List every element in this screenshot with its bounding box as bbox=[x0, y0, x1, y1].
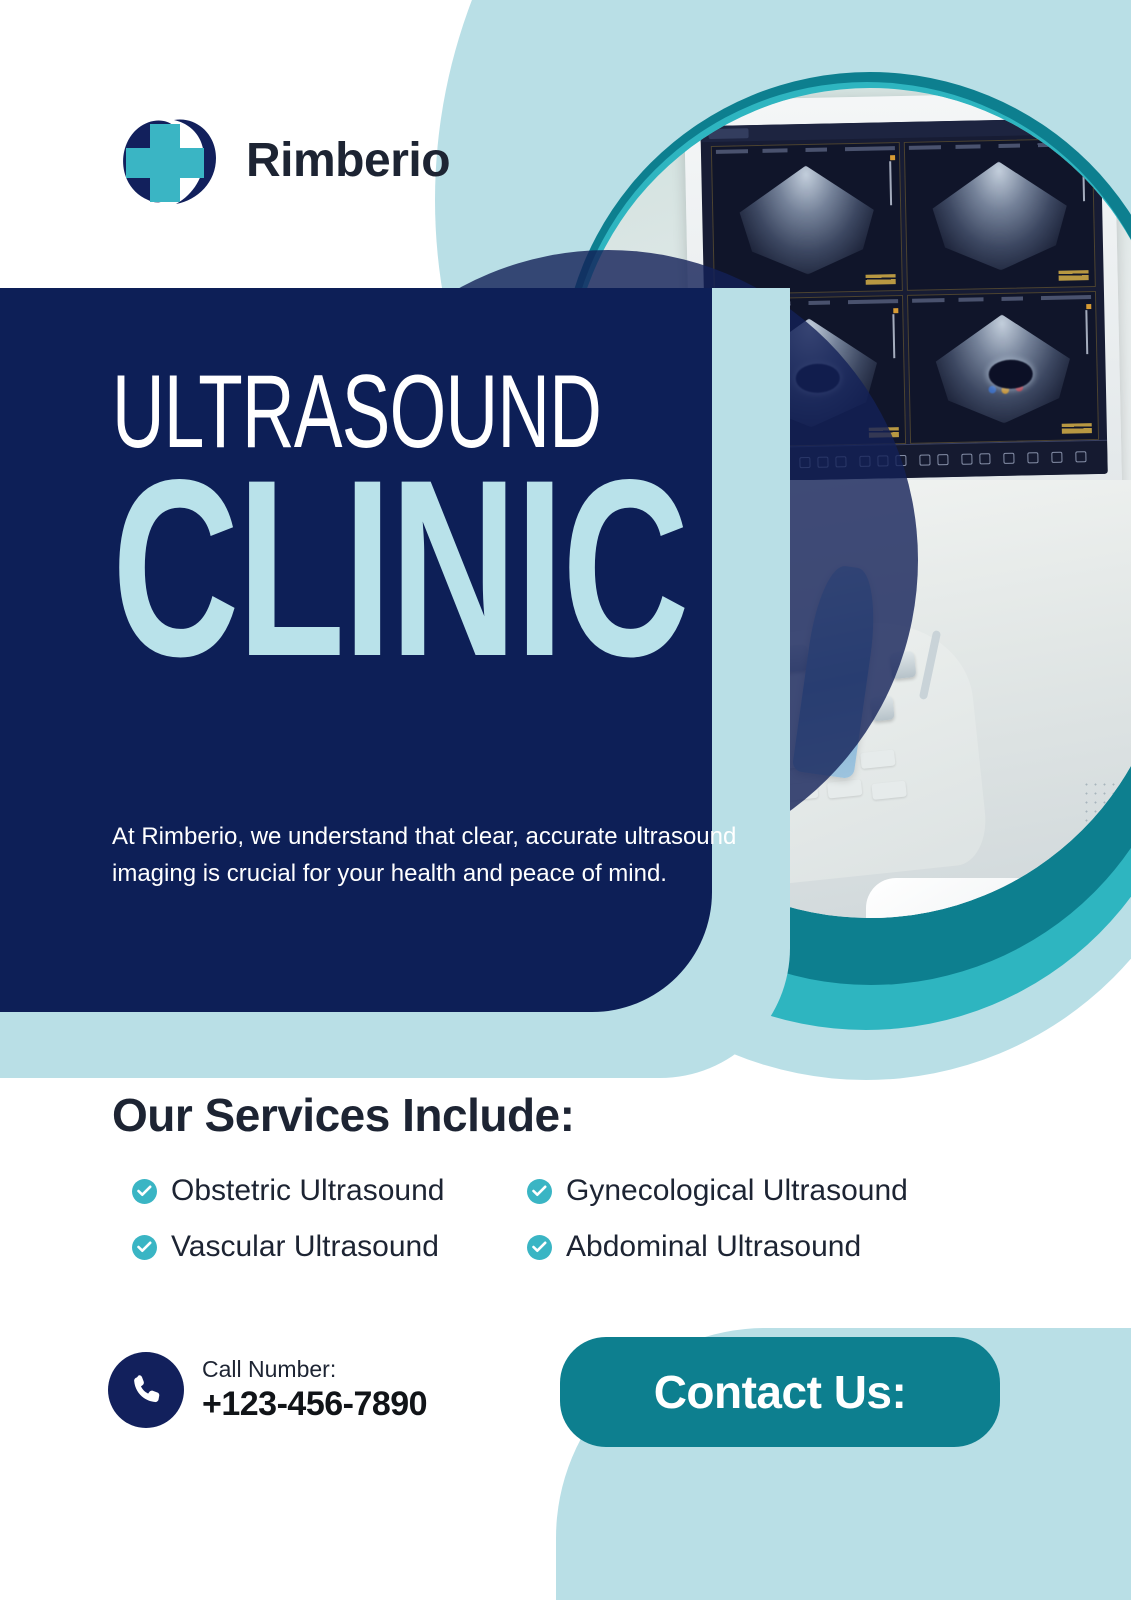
brand-wordmark: Rimberio bbox=[246, 133, 450, 188]
supply-tray bbox=[1030, 900, 1131, 918]
call-number-value: +123-456-7890 bbox=[202, 1384, 427, 1425]
console-vent bbox=[1082, 780, 1131, 890]
hero-description: At Rimberio, we understand that clear, a… bbox=[112, 818, 742, 892]
service-item-obstetric[interactable]: Obstetric Ultrasound bbox=[132, 1174, 527, 1208]
check-circle-icon bbox=[132, 1179, 157, 1204]
medical-cross-heart-logo-icon bbox=[112, 104, 228, 216]
brand-logo[interactable]: Rimberio bbox=[112, 104, 450, 216]
service-label: Abdominal Ultrasound bbox=[566, 1230, 861, 1264]
scan-image bbox=[711, 142, 903, 295]
check-circle-icon bbox=[132, 1235, 157, 1260]
screen-tab bbox=[708, 128, 748, 139]
contact-us-button-label: Contact Us: bbox=[654, 1365, 907, 1419]
service-item-vascular[interactable]: Vascular Ultrasound bbox=[132, 1230, 527, 1264]
service-label: Gynecological Ultrasound bbox=[566, 1174, 908, 1208]
console-towel bbox=[866, 878, 1044, 918]
call-number-label: Call Number: bbox=[202, 1356, 336, 1382]
services-list: Obstetric Ultrasound Gynecological Ultra… bbox=[132, 1174, 1032, 1264]
service-label: Obstetric Ultrasound bbox=[171, 1174, 444, 1208]
check-circle-icon bbox=[527, 1179, 552, 1204]
scan-image-doppler bbox=[907, 291, 1099, 444]
service-item-gynecological[interactable]: Gynecological Ultrasound bbox=[527, 1174, 987, 1208]
poster-canvas: Rimberio ULTRASOUND CLINIC At Rimberio, … bbox=[0, 0, 1131, 1600]
service-item-abdominal[interactable]: Abdominal Ultrasound bbox=[527, 1230, 987, 1264]
check-circle-icon bbox=[527, 1235, 552, 1260]
headline-line-2: CLINIC bbox=[112, 466, 687, 673]
contact-info[interactable]: Call Number: +123-456-7890 bbox=[108, 1352, 427, 1428]
services-heading: Our Services Include: bbox=[112, 1088, 574, 1142]
contact-us-button[interactable]: Contact Us: bbox=[560, 1337, 1000, 1447]
hero-headline: ULTRASOUND CLINIC bbox=[112, 366, 934, 672]
service-label: Vascular Ultrasound bbox=[171, 1230, 439, 1264]
phone-icon bbox=[108, 1352, 184, 1428]
scan-image bbox=[904, 138, 1096, 291]
